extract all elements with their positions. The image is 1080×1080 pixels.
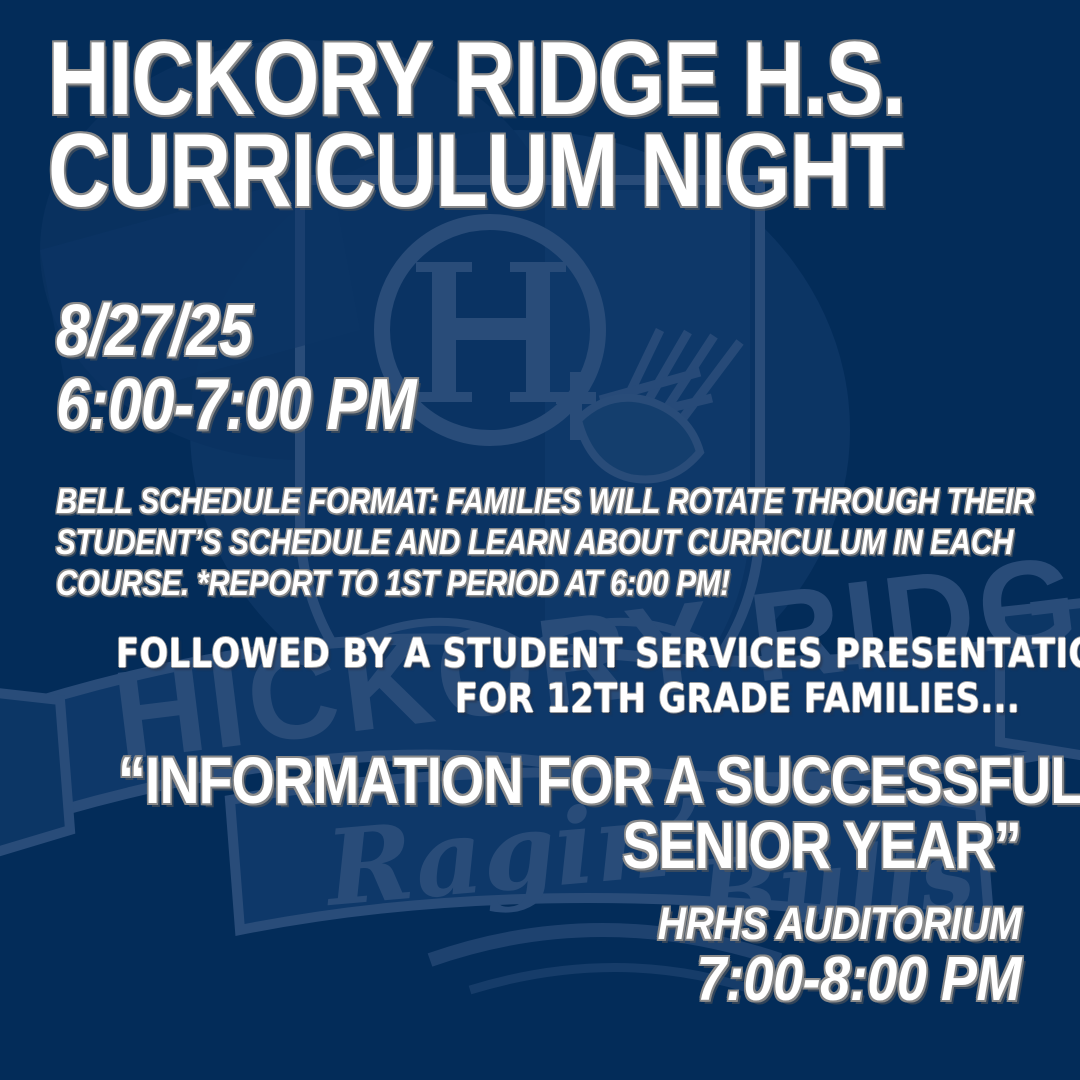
bell-schedule-description: BELL SCHEDULE FORMAT: FAMILIES WILL ROTA… bbox=[56, 482, 1036, 605]
student-services-line-1: FOLLOWED BY A STUDENT SERVICES PRESENTAT… bbox=[116, 632, 1020, 677]
page-title: HICKORY RIDGE H.S. CURRICULUM NIGHT bbox=[48, 34, 860, 217]
event-date: 8/27/25 bbox=[56, 294, 416, 368]
title-line-2: CURRICULUM NIGHT bbox=[48, 126, 860, 218]
quote-line-1: “INFORMATION FOR A SUCCESSFUL bbox=[118, 748, 1021, 813]
description-line-2: STUDENT’S SCHEDULE AND LEARN ABOUT CURRI… bbox=[56, 523, 1036, 564]
venue-and-time: HRHS AUDITORIUM 7:00-8:00 PM bbox=[0, 900, 1021, 1011]
venue-time: 7:00-8:00 PM bbox=[133, 948, 1021, 1011]
student-services-note: FOLLOWED BY A STUDENT SERVICES PRESENTAT… bbox=[116, 632, 1020, 722]
description-line-1: BELL SCHEDULE FORMAT: FAMILIES WILL ROTA… bbox=[56, 482, 1036, 523]
student-services-line-2: FOR 12TH GRADE FAMILIES... bbox=[116, 677, 1020, 722]
event-time: 6:00-7:00 PM bbox=[56, 368, 416, 442]
title-line-1: HICKORY RIDGE H.S. bbox=[48, 34, 860, 126]
quote-line-2: SENIOR YEAR” bbox=[118, 813, 1021, 878]
presentation-title-quote: “INFORMATION FOR A SUCCESSFUL SENIOR YEA… bbox=[118, 748, 1021, 877]
curriculum-night-flyer: HICKORY RIDGE Ragin’ Bulls HICKORY RIDGE… bbox=[0, 0, 1080, 1080]
description-line-3: COURSE. *REPORT TO 1ST PERIOD AT 6:00 PM… bbox=[56, 564, 1036, 605]
venue-location: HRHS AUDITORIUM bbox=[133, 900, 1021, 948]
event-datetime: 8/27/25 6:00-7:00 PM bbox=[56, 294, 416, 442]
